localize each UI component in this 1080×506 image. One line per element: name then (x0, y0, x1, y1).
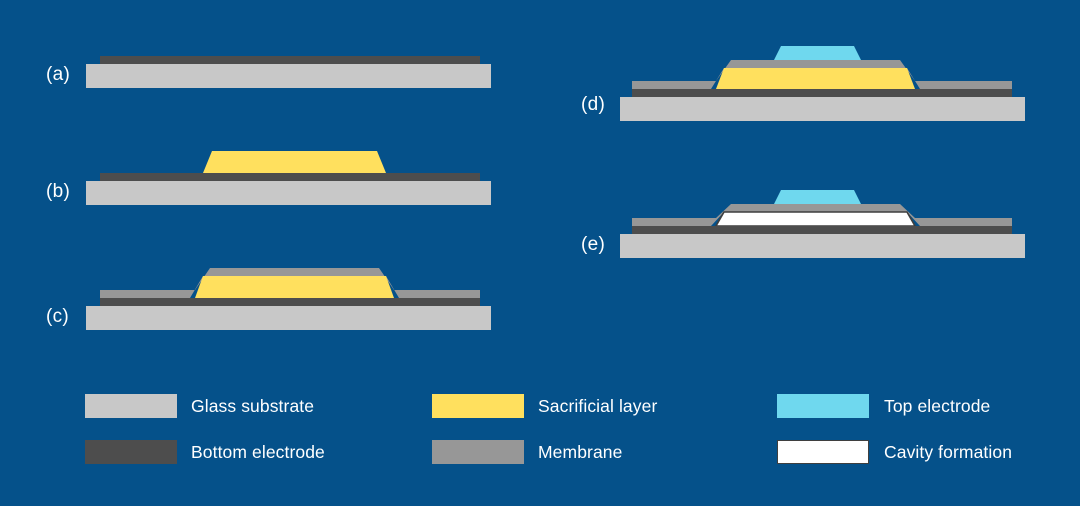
panel-d-bottom-electrode (632, 89, 1012, 97)
panel-b-glass-substrate (86, 181, 491, 205)
panel-e-graphic (620, 190, 1025, 258)
panel-e-glass-substrate (620, 234, 1025, 258)
panel-b-graphic (86, 151, 491, 205)
panel-label-a: (a) (46, 64, 70, 86)
process-diagram-svg (0, 0, 1080, 506)
panel-label-d: (d) (581, 94, 605, 116)
panel-label-e: (e) (581, 234, 605, 256)
panel-e-cavity-formation (716, 212, 915, 226)
panel-b-bottom-electrode (100, 173, 480, 181)
panel-label-c: (c) (46, 306, 69, 328)
legend-swatch-cavity-formation (777, 440, 869, 464)
panel-c-sacrificial-layer (195, 276, 394, 298)
legend-label-bottom-electrode: Bottom electrode (191, 442, 325, 463)
panel-e-top-electrode (773, 190, 862, 206)
legend-swatch-membrane (432, 440, 524, 464)
panel-c-graphic (86, 268, 491, 330)
legend-label-cavity-formation: Cavity formation (884, 442, 1012, 463)
legend-label-top-electrode: Top electrode (884, 396, 990, 417)
panel-d-glass-substrate (620, 97, 1025, 121)
panel-label-b: (b) (46, 181, 70, 203)
panel-c-glass-substrate (86, 306, 491, 330)
panel-d-top-electrode (773, 46, 862, 62)
panel-e-bottom-electrode (632, 226, 1012, 234)
legend-swatch-sacrificial-layer (432, 394, 524, 418)
process-flow-figure: (a) (b) (c) (d) (e) Glass substrate Bott… (0, 0, 1080, 506)
legend-label-glass-substrate: Glass substrate (191, 396, 314, 417)
legend-swatch-glass-substrate (85, 394, 177, 418)
legend-swatch-top-electrode (777, 394, 869, 418)
panel-c-bottom-electrode (100, 298, 480, 306)
legend-swatch-bottom-electrode (85, 440, 177, 464)
panel-a-bottom-electrode (100, 56, 480, 64)
legend-label-sacrificial-layer: Sacrificial layer (538, 396, 657, 417)
legend-label-membrane: Membrane (538, 442, 622, 463)
panel-a-glass-substrate (86, 64, 491, 88)
panel-d-sacrificial-layer (716, 68, 915, 89)
panel-b-sacrificial-layer (203, 151, 386, 173)
panel-a-graphic (86, 56, 491, 88)
panel-d-graphic (620, 46, 1025, 121)
